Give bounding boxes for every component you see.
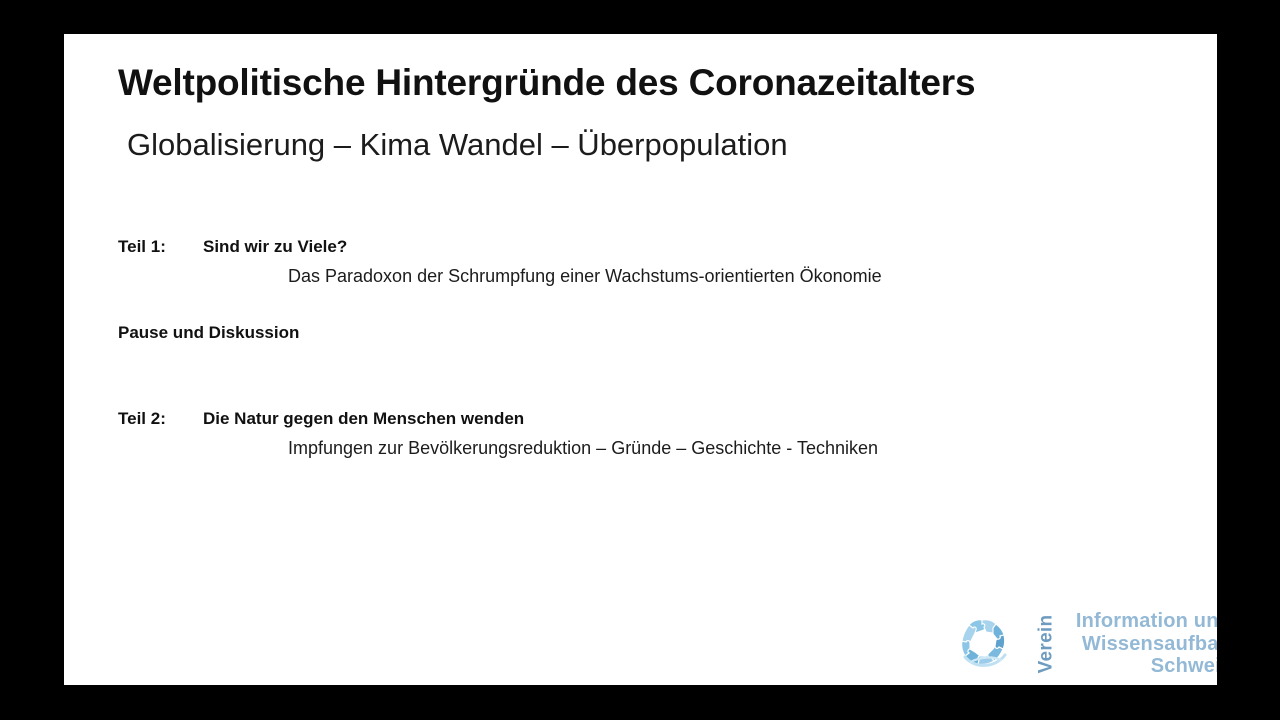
- organization-logo: Verein Information und Wissensaufbau Sch…: [953, 604, 1213, 684]
- puzzle-globe-icon: [953, 613, 1015, 675]
- agenda-part1-label: Teil 1:: [118, 237, 166, 257]
- agenda-part2-label: Teil 2:: [118, 409, 166, 429]
- logo-name-lines: Information und Wissensaufbau Schweiz: [1076, 610, 1217, 677]
- agenda-part2-heading: Die Natur gegen den Menschen wenden: [203, 409, 524, 429]
- logo-line-3: Schweiz: [1076, 655, 1217, 677]
- presentation-slide: Weltpolitische Hintergründe des Coronaze…: [64, 34, 1217, 685]
- logo-verein-text: Verein: [1035, 615, 1057, 674]
- video-frame: Weltpolitische Hintergründe des Coronaze…: [0, 0, 1280, 720]
- agenda-part2-subline: Impfungen zur Bevölkerungsreduktion – Gr…: [288, 438, 878, 459]
- agenda-break-label: Pause und Diskussion: [118, 323, 299, 343]
- agenda-list: Teil 1: Sind wir zu Viele? Das Paradoxon…: [64, 34, 1217, 685]
- logo-line-1: Information und: [1076, 610, 1217, 632]
- logo-vertical-word: Verein: [1017, 613, 1076, 675]
- agenda-part1-heading: Sind wir zu Viele?: [203, 237, 347, 257]
- agenda-part1-subline: Das Paradoxon der Schrumpfung einer Wach…: [288, 266, 882, 287]
- logo-line-2: Wissensaufbau: [1076, 633, 1217, 655]
